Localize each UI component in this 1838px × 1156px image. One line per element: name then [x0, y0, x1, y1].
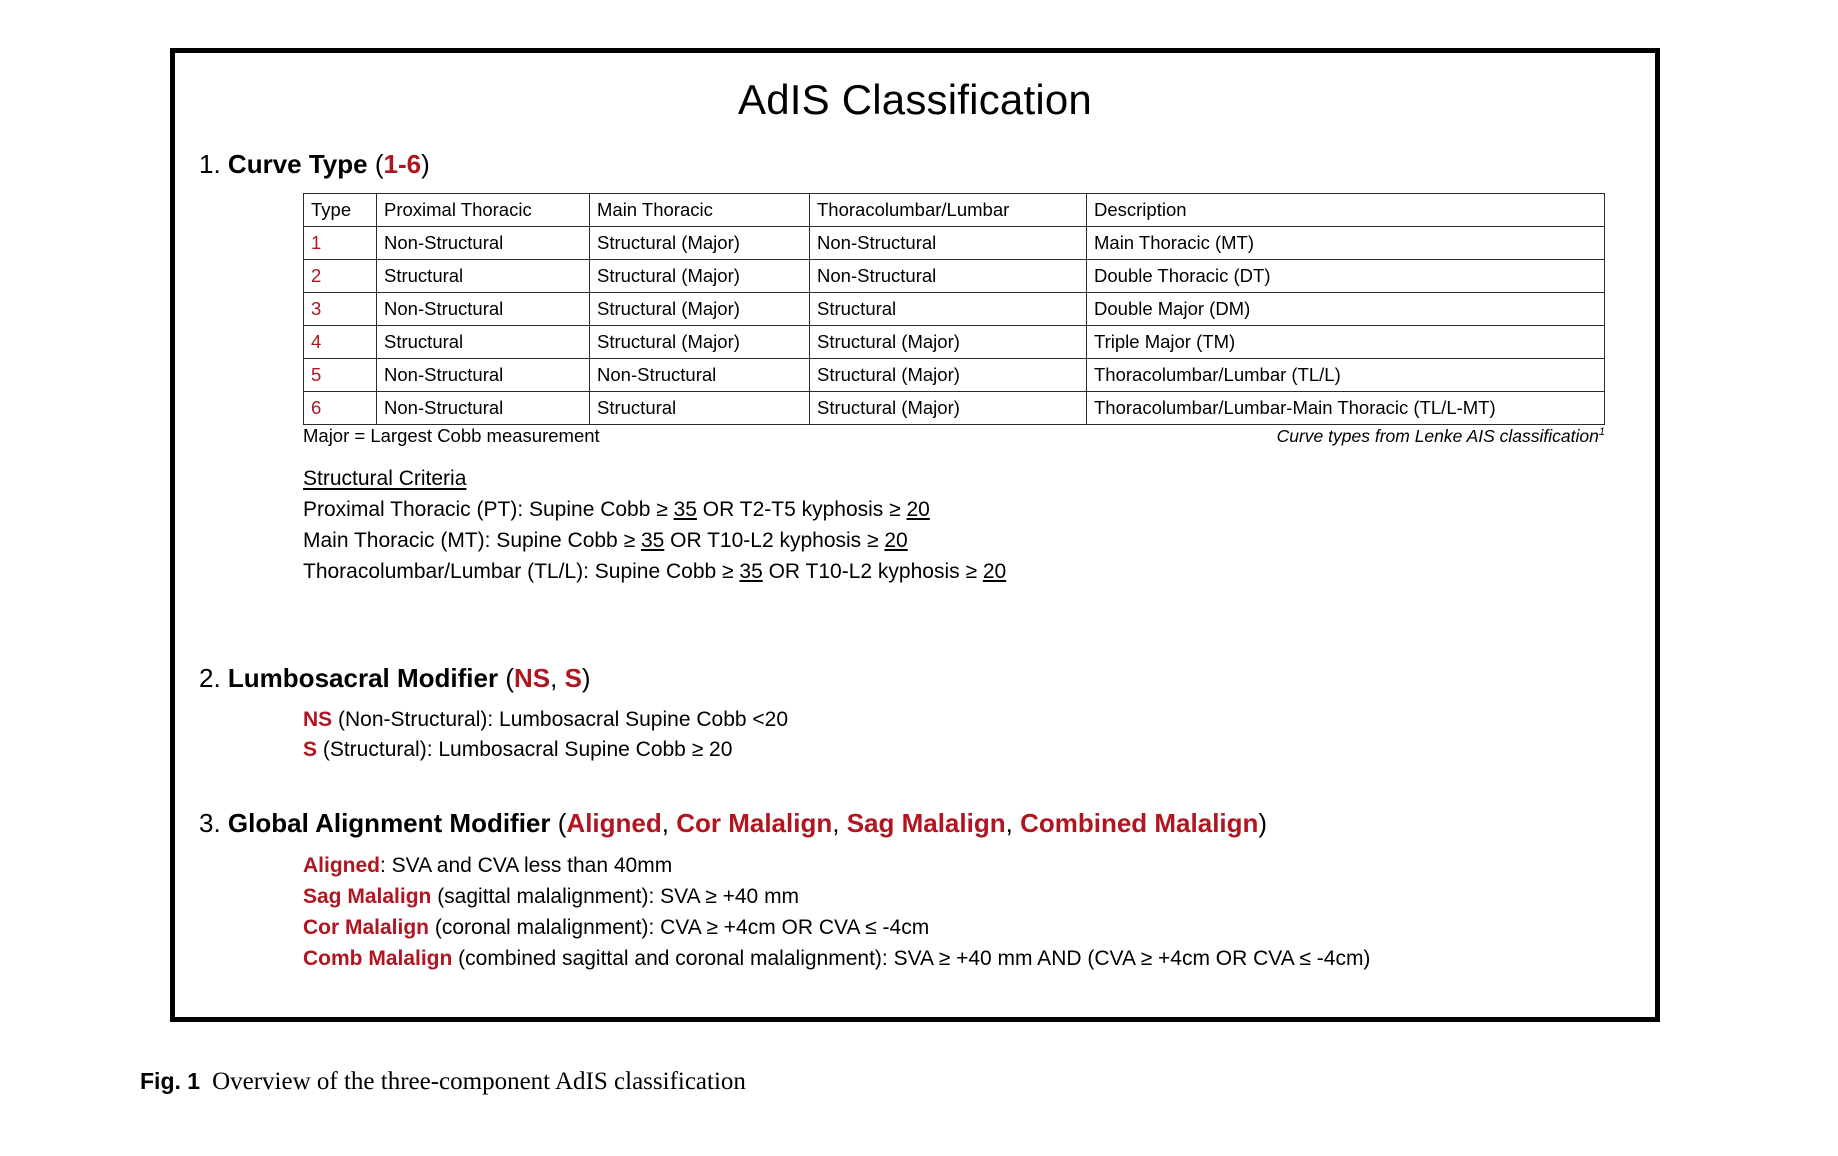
definition-comb-malalign: Comb Malalign (combined sagittal and cor…	[303, 943, 1370, 974]
section-2-paren-close: )	[582, 663, 591, 693]
criteria-line-mt: Main Thoracic (MT): Supine Cobb ≥ 35 OR …	[303, 525, 1006, 556]
section-3-title: Global Alignment Modifier	[228, 808, 551, 838]
cell-thoracolumbar-lumbar: Structural (Major)	[810, 326, 1087, 359]
cell-main-thoracic: Non-Structural	[590, 359, 810, 392]
section-2-option-ns: NS	[514, 663, 550, 693]
criteria-mt-value-2: 20	[884, 529, 907, 552]
structural-criteria-title: Structural Criteria	[303, 463, 1006, 494]
column-header-thoracolumbar-lumbar: Thoracolumbar/Lumbar	[810, 194, 1087, 227]
definition-sag-malalign-text: (sagittal malalignment): SVA ≥ +40 mm	[431, 885, 799, 908]
cell-description: Double Major (DM)	[1087, 293, 1605, 326]
criteria-tll-value-2: 20	[983, 560, 1006, 583]
cell-proximal-thoracic: Structural	[377, 260, 590, 293]
section-3-heading: 3. Global Alignment Modifier (Aligned, C…	[199, 808, 1267, 839]
cell-description: Double Thoracic (DT)	[1087, 260, 1605, 293]
cell-type: 2	[304, 260, 377, 293]
section-3-option-sag-malalign: Sag Malalign	[847, 808, 1006, 838]
column-header-main-thoracic: Main Thoracic	[590, 194, 810, 227]
definition-s: S (Structural): Lumbosacral Supine Cobb …	[303, 735, 788, 765]
section-1-heading: 1. Curve Type (1-6)	[199, 149, 1655, 180]
criteria-mt-label: Main Thoracic (MT): Supine Cobb ≥	[303, 529, 641, 552]
criteria-tll-value-1: 35	[739, 560, 762, 583]
section-1-title: Curve Type	[228, 149, 368, 179]
table-row: 6 Non-Structural Structural Structural (…	[304, 392, 1605, 425]
definition-sag-malalign-code: Sag Malalign	[303, 885, 431, 908]
criteria-line-tll: Thoracolumbar/Lumbar (TL/L): Supine Cobb…	[303, 556, 1006, 587]
definition-sag-malalign: Sag Malalign (sagittal malalignment): SV…	[303, 881, 1370, 912]
section-3-option-aligned: Aligned	[566, 808, 661, 838]
table-row: 5 Non-Structural Non-Structural Structur…	[304, 359, 1605, 392]
definition-cor-malalign: Cor Malalign (coronal malalignment): CVA…	[303, 912, 1370, 943]
cell-thoracolumbar-lumbar: Structural (Major)	[810, 359, 1087, 392]
criteria-pt-value-1: 35	[674, 498, 697, 521]
cell-description: Triple Major (TM)	[1087, 326, 1605, 359]
cell-proximal-thoracic: Structural	[377, 326, 590, 359]
table-row: 4 Structural Structural (Major) Structur…	[304, 326, 1605, 359]
criteria-pt-label: Proximal Thoracic (PT): Supine Cobb ≥	[303, 498, 674, 521]
cell-type: 6	[304, 392, 377, 425]
figure-caption-text: Overview of the three-component AdIS cla…	[212, 1068, 746, 1095]
cell-proximal-thoracic: Non-Structural	[377, 392, 590, 425]
cell-main-thoracic: Structural (Major)	[590, 293, 810, 326]
criteria-pt-mid: OR T2-T5 kyphosis ≥	[697, 498, 907, 521]
definition-aligned-code: Aligned	[303, 854, 380, 877]
criteria-mt-value-1: 35	[641, 529, 664, 552]
figure-frame: AdIS Classification 1. Curve Type (1-6) …	[170, 48, 1660, 1022]
note-source-text: Curve types from Lenke AIS classificatio…	[1277, 426, 1599, 446]
section-2-paren-open: (	[505, 663, 514, 693]
cell-type: 4	[304, 326, 377, 359]
definition-ns: NS (Non-Structural): Lumbosacral Supine …	[303, 705, 788, 735]
criteria-pt-value-2: 20	[907, 498, 930, 521]
cell-main-thoracic: Structural (Major)	[590, 326, 810, 359]
section-1-paren-close: )	[421, 149, 430, 179]
definition-cor-malalign-code: Cor Malalign	[303, 916, 429, 939]
section-1-range: 1-6	[384, 149, 422, 179]
cell-proximal-thoracic: Non-Structural	[377, 227, 590, 260]
cell-main-thoracic: Structural (Major)	[590, 260, 810, 293]
curve-type-table: Type Proximal Thoracic Main Thoracic Tho…	[303, 193, 1605, 425]
cell-thoracolumbar-lumbar: Structural (Major)	[810, 392, 1087, 425]
cell-type: 1	[304, 227, 377, 260]
section-3-option-combined-malalign: Combined Malalign	[1020, 808, 1258, 838]
section-2-number: 2.	[199, 663, 221, 693]
lumbosacral-definitions: NS (Non-Structural): Lumbosacral Supine …	[303, 705, 788, 766]
definition-cor-malalign-text: (coronal malalignment): CVA ≥ +4cm OR CV…	[429, 916, 929, 939]
section-3-separator-2: ,	[832, 808, 846, 838]
section-2-heading: 2. Lumbosacral Modifier (NS, S)	[199, 663, 591, 694]
figure-caption: Fig. 1Overview of the three-component Ad…	[140, 1068, 746, 1096]
section-3-number: 3.	[199, 808, 221, 838]
definition-comb-malalign-text: (combined sagittal and coronal malalignm…	[452, 947, 1370, 970]
figure-caption-label: Fig. 1	[140, 1068, 200, 1094]
definition-aligned-text: : SVA and CVA less than 40mm	[380, 854, 672, 877]
criteria-mt-mid: OR T10-L2 kyphosis ≥	[664, 529, 884, 552]
definition-comb-malalign-code: Comb Malalign	[303, 947, 452, 970]
section-3-paren-close: )	[1258, 808, 1267, 838]
cell-description: Thoracolumbar/Lumbar-Main Thoracic (TL/L…	[1087, 392, 1605, 425]
section-3-separator-1: ,	[662, 808, 676, 838]
section-2-separator: ,	[550, 663, 564, 693]
cell-description: Main Thoracic (MT)	[1087, 227, 1605, 260]
note-source-superscript: 1	[1599, 426, 1605, 438]
section-2-option-s: S	[565, 663, 582, 693]
cell-thoracolumbar-lumbar: Non-Structural	[810, 260, 1087, 293]
criteria-tll-mid: OR T10-L2 kyphosis ≥	[763, 560, 983, 583]
column-header-proximal-thoracic: Proximal Thoracic	[377, 194, 590, 227]
cell-proximal-thoracic: Non-Structural	[377, 293, 590, 326]
table-header-row: Type Proximal Thoracic Main Thoracic Tho…	[304, 194, 1605, 227]
cell-description: Thoracolumbar/Lumbar (TL/L)	[1087, 359, 1605, 392]
definition-ns-code: NS	[303, 708, 332, 731]
section-1-number: 1.	[199, 149, 221, 179]
cell-main-thoracic: Structural	[590, 392, 810, 425]
table-row: 1 Non-Structural Structural (Major) Non-…	[304, 227, 1605, 260]
column-header-description: Description	[1087, 194, 1605, 227]
cell-type: 3	[304, 293, 377, 326]
section-2-title: Lumbosacral Modifier	[228, 663, 498, 693]
cell-proximal-thoracic: Non-Structural	[377, 359, 590, 392]
note-major-definition: Major = Largest Cobb measurement	[303, 425, 600, 447]
definition-aligned: Aligned: SVA and CVA less than 40mm	[303, 850, 1370, 881]
definition-s-text: (Structural): Lumbosacral Supine Cobb ≥ …	[317, 738, 732, 761]
global-alignment-definitions: Aligned: SVA and CVA less than 40mm Sag …	[303, 850, 1370, 974]
definition-ns-text: (Non-Structural): Lumbosacral Supine Cob…	[332, 708, 788, 731]
section-3-option-cor-malalign: Cor Malalign	[676, 808, 832, 838]
cell-main-thoracic: Structural (Major)	[590, 227, 810, 260]
section-3-separator-3: ,	[1006, 808, 1020, 838]
page-title: AdIS Classification	[175, 77, 1655, 123]
table-row: 2 Structural Structural (Major) Non-Stru…	[304, 260, 1605, 293]
criteria-line-pt: Proximal Thoracic (PT): Supine Cobb ≥ 35…	[303, 494, 1006, 525]
section-1-paren-open: (	[375, 149, 384, 179]
cell-type: 5	[304, 359, 377, 392]
definition-s-code: S	[303, 738, 317, 761]
cell-thoracolumbar-lumbar: Structural	[810, 293, 1087, 326]
criteria-tll-label: Thoracolumbar/Lumbar (TL/L): Supine Cobb…	[303, 560, 739, 583]
note-source-attribution: Curve types from Lenke AIS classificatio…	[1277, 426, 1605, 447]
structural-criteria-block: Structural Criteria Proximal Thoracic (P…	[303, 463, 1006, 587]
column-header-type: Type	[304, 194, 377, 227]
cell-thoracolumbar-lumbar: Non-Structural	[810, 227, 1087, 260]
table-notes: Major = Largest Cobb measurement Curve t…	[303, 425, 1605, 447]
table-row: 3 Non-Structural Structural (Major) Stru…	[304, 293, 1605, 326]
